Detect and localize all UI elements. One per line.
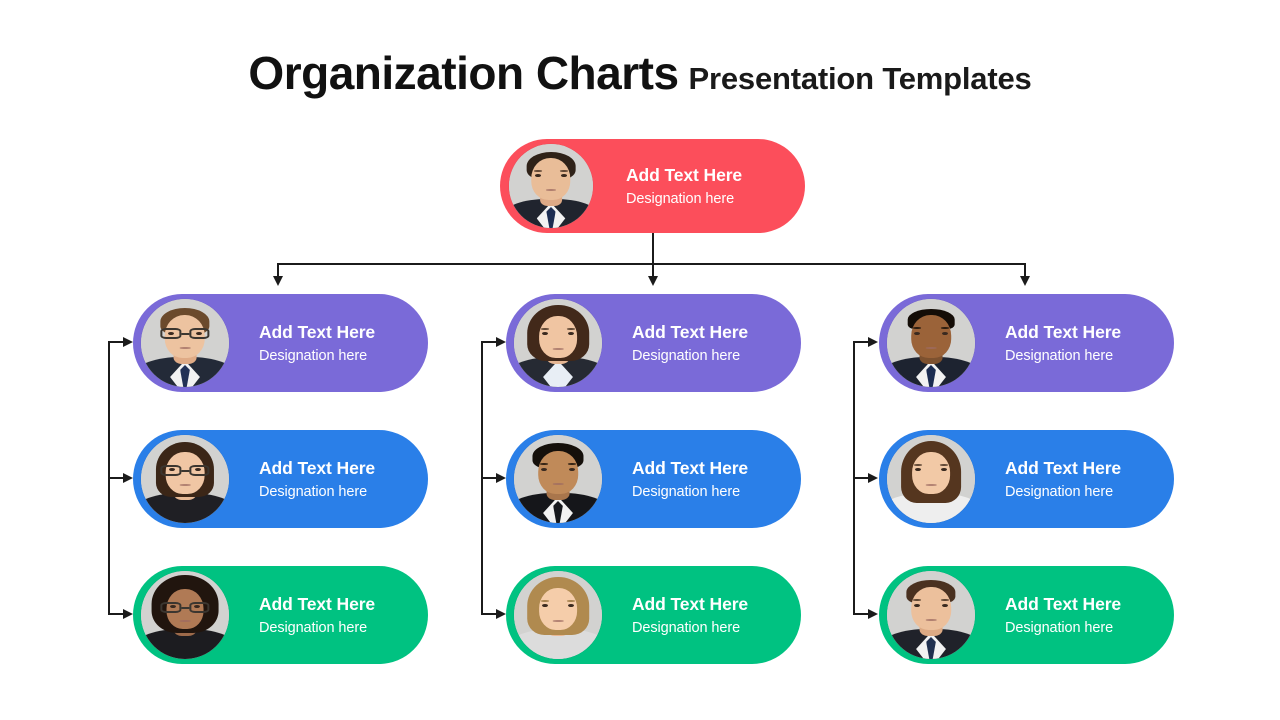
arrow-right-right-2-icon — [868, 473, 878, 483]
node-text: Add Text Here Designation here — [626, 165, 742, 208]
org-node-middle-1[interactable]: Add Text Here Designation here — [506, 294, 801, 392]
node-designation: Designation here — [1005, 348, 1121, 365]
connector-branch-right-2 — [853, 477, 869, 479]
node-title: Add Text Here — [632, 322, 748, 342]
avatar — [141, 435, 229, 523]
connector-root-stem — [652, 232, 654, 264]
portrait-man-dark-suit-icon — [514, 435, 602, 523]
org-node-root[interactable]: Add Text Here Designation here — [500, 139, 805, 233]
arrow-right-right-3-icon — [868, 609, 878, 619]
org-node-right-1[interactable]: Add Text Here Designation here — [879, 294, 1174, 392]
arrow-down-middle-icon — [648, 276, 658, 286]
portrait-woman-long-brown-hair-icon — [887, 435, 975, 523]
node-designation: Designation here — [259, 484, 375, 501]
node-text: Add Text Here Designation here — [1005, 458, 1121, 501]
avatar — [887, 299, 975, 387]
portrait-woman-curly-hair-glasses-icon — [141, 571, 229, 659]
node-designation: Designation here — [632, 348, 748, 365]
avatar — [514, 299, 602, 387]
page-title: Organization ChartsPresentation Template… — [0, 46, 1280, 100]
connector-branch-right-1 — [853, 341, 869, 343]
node-designation: Designation here — [259, 620, 375, 637]
connector-horizontal-bus — [277, 263, 1025, 265]
portrait-woman-glasses-dark-hair-icon — [141, 435, 229, 523]
org-node-right-2[interactable]: Add Text Here Designation here — [879, 430, 1174, 528]
portrait-man-brown-hair-stubble-icon — [887, 571, 975, 659]
arrow-down-right-icon — [1020, 276, 1030, 286]
arrow-right-middle-3-icon — [496, 609, 506, 619]
portrait-man-glasses-icon — [141, 299, 229, 387]
node-text: Add Text Here Designation here — [1005, 594, 1121, 637]
node-title: Add Text Here — [1005, 458, 1121, 478]
portrait-woman-blonde-hair-icon — [514, 571, 602, 659]
connector-branch-middle-1 — [481, 341, 497, 343]
org-node-middle-3[interactable]: Add Text Here Designation here — [506, 566, 801, 664]
node-text: Add Text Here Designation here — [1005, 322, 1121, 365]
node-text: Add Text Here Designation here — [632, 458, 748, 501]
connector-branch-left-2 — [108, 477, 124, 479]
avatar — [509, 144, 593, 228]
title-subtitle: Presentation Templates — [689, 61, 1032, 96]
node-text: Add Text Here Designation here — [259, 322, 375, 365]
connector-branch-middle-3 — [481, 613, 497, 615]
portrait-man-dark-hair-navy-tie-icon — [509, 144, 593, 228]
node-designation: Designation here — [632, 620, 748, 637]
node-title: Add Text Here — [632, 458, 748, 478]
arrow-down-left-icon — [273, 276, 283, 286]
org-node-left-1[interactable]: Add Text Here Designation here — [133, 294, 428, 392]
node-title: Add Text Here — [1005, 594, 1121, 614]
arrow-right-middle-2-icon — [496, 473, 506, 483]
org-node-left-3[interactable]: Add Text Here Designation here — [133, 566, 428, 664]
avatar — [514, 435, 602, 523]
org-node-left-2[interactable]: Add Text Here Designation here — [133, 430, 428, 528]
arrow-right-middle-1-icon — [496, 337, 506, 347]
node-designation: Designation here — [1005, 484, 1121, 501]
node-text: Add Text Here Designation here — [259, 594, 375, 637]
node-text: Add Text Here Designation here — [259, 458, 375, 501]
slide-canvas: Organization ChartsPresentation Template… — [0, 0, 1280, 720]
node-title: Add Text Here — [1005, 322, 1121, 342]
node-title: Add Text Here — [259, 322, 375, 342]
connector-branch-middle-2 — [481, 477, 497, 479]
node-designation: Designation here — [626, 191, 742, 208]
node-title: Add Text Here — [259, 458, 375, 478]
org-node-right-3[interactable]: Add Text Here Designation here — [879, 566, 1174, 664]
node-text: Add Text Here Designation here — [632, 322, 748, 365]
arrow-right-right-1-icon — [868, 337, 878, 347]
node-title: Add Text Here — [259, 594, 375, 614]
avatar — [514, 571, 602, 659]
portrait-man-short-hair-navy-tie-icon — [887, 299, 975, 387]
avatar — [141, 571, 229, 659]
connector-branch-right-3 — [853, 613, 869, 615]
avatar — [887, 571, 975, 659]
title-main: Organization Charts — [248, 47, 678, 99]
connector-branch-left-1 — [108, 341, 124, 343]
avatar — [887, 435, 975, 523]
arrow-right-left-1-icon — [123, 337, 133, 347]
node-designation: Designation here — [1005, 620, 1121, 637]
node-text: Add Text Here Designation here — [632, 594, 748, 637]
avatar — [141, 299, 229, 387]
org-node-middle-2[interactable]: Add Text Here Designation here — [506, 430, 801, 528]
node-title: Add Text Here — [626, 165, 742, 185]
connector-branch-left-3 — [108, 613, 124, 615]
portrait-woman-brown-hair-icon — [514, 299, 602, 387]
arrow-right-left-3-icon — [123, 609, 133, 619]
node-title: Add Text Here — [632, 594, 748, 614]
node-designation: Designation here — [632, 484, 748, 501]
arrow-right-left-2-icon — [123, 473, 133, 483]
node-designation: Designation here — [259, 348, 375, 365]
